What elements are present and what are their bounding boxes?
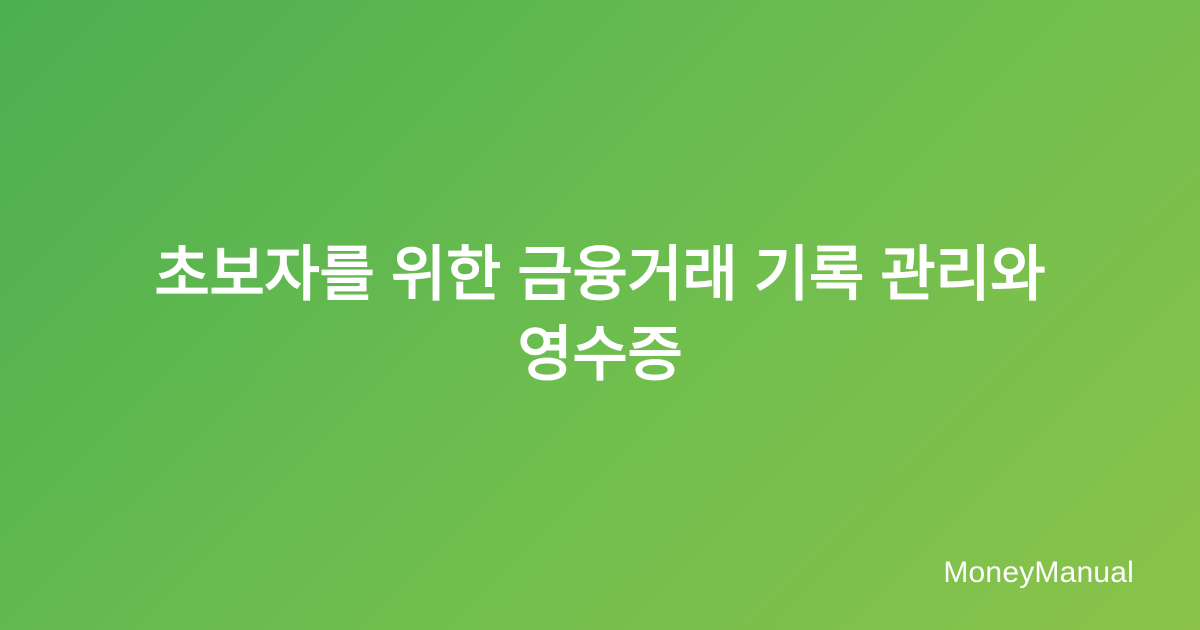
title-container: 초보자를 위한 금융거래 기록 관리와 영수증 xyxy=(0,0,1200,630)
og-card: 초보자를 위한 금융거래 기록 관리와 영수증 MoneyManual xyxy=(0,0,1200,630)
page-title: 초보자를 위한 금융거래 기록 관리와 영수증 xyxy=(90,235,1110,395)
brand-watermark: MoneyManual xyxy=(943,558,1134,588)
